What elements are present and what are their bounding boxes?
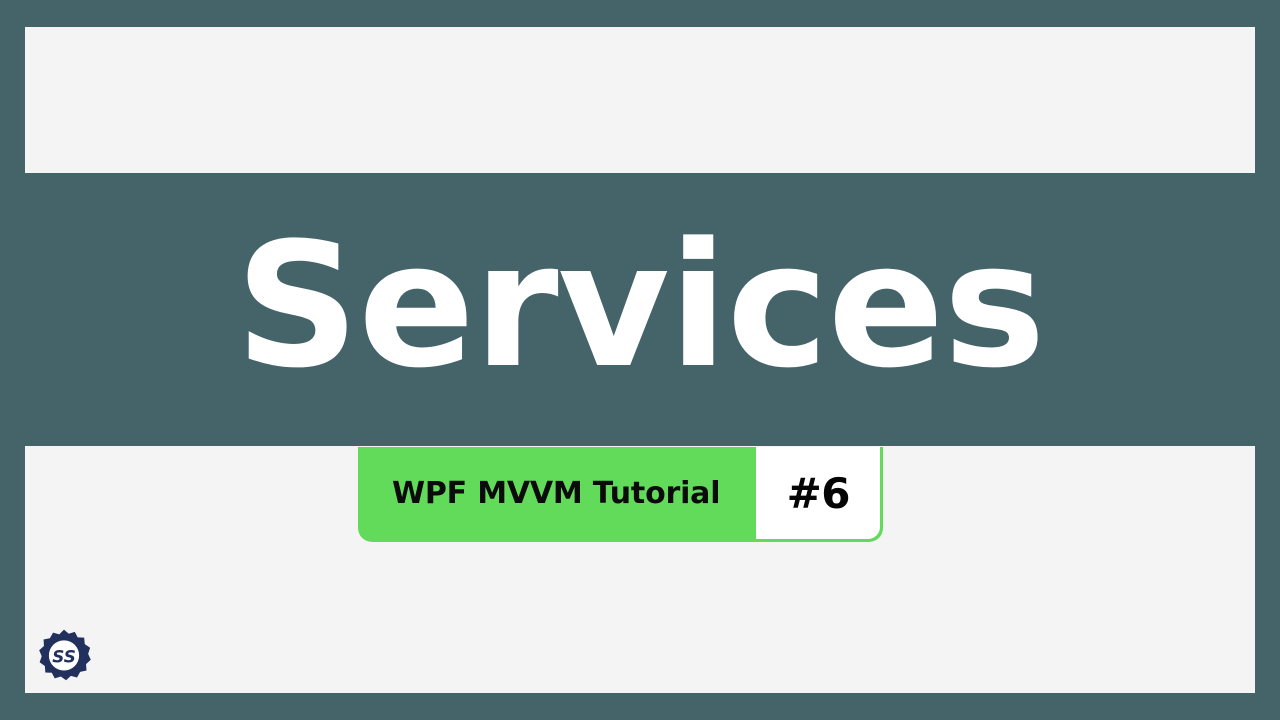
top-content-panel bbox=[25, 27, 1255, 173]
ss-gear-logo: SS bbox=[36, 628, 92, 684]
logo-initials: SS bbox=[52, 647, 76, 667]
tutorial-badge: WPF MVVM Tutorial #6 bbox=[358, 447, 883, 542]
slide-root: Services WPF MVVM Tutorial #6 SS bbox=[0, 0, 1280, 720]
title-area: Services bbox=[0, 173, 1280, 446]
tutorial-series-label: WPF MVVM Tutorial bbox=[358, 447, 756, 539]
gear-icon: SS bbox=[36, 628, 92, 684]
episode-number-badge: #6 bbox=[756, 447, 880, 539]
page-title: Services bbox=[235, 220, 1044, 392]
